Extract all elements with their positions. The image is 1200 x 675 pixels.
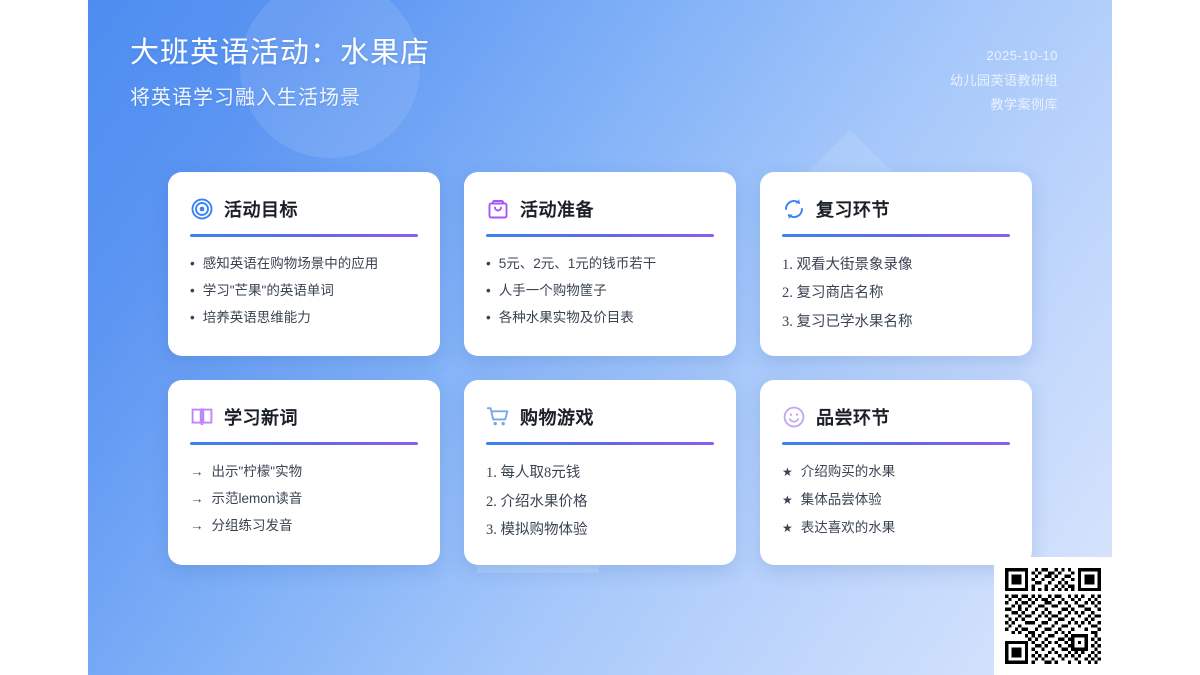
card-header: 活动准备 — [486, 194, 714, 224]
card-header: 品尝环节 — [782, 402, 1010, 432]
bullet-marker: • — [190, 281, 195, 302]
target-icon — [190, 197, 214, 221]
list-item: →分组练习发音 — [190, 513, 418, 540]
list-item: 2. 复习商店名称 — [782, 279, 1010, 307]
card-tasting-section[interactable]: 品尝环节 ★介绍购买的水果 ★集体品尝体验 ★表达喜欢的水果 — [760, 380, 1032, 564]
bullet-marker: • — [486, 281, 491, 302]
list-item: 3. 模拟购物体验 — [486, 516, 714, 544]
star-marker: ★ — [782, 490, 793, 512]
star-marker: ★ — [782, 462, 793, 484]
shopping-cart-icon — [486, 405, 510, 429]
bullet-marker: • — [190, 254, 195, 275]
list-item-text: 2. 复习商店名称 — [782, 282, 884, 304]
card-shopping-game[interactable]: 购物游戏 1. 每人取8元钱 2. 介绍水果价格 3. 模拟购物体验 — [464, 380, 736, 564]
star-marker: ★ — [782, 518, 793, 540]
bullet-marker: • — [190, 308, 195, 329]
arrow-marker: → — [190, 489, 204, 510]
card-list: 1. 观看大街景象录像 2. 复习商店名称 3. 复习已学水果名称 — [782, 251, 1010, 336]
list-item: ★表达喜欢的水果 — [782, 515, 1010, 543]
list-item-text: 1. 每人取8元钱 — [486, 462, 580, 484]
smiley-face-icon — [782, 405, 806, 429]
card-list: •感知英语在购物场景中的应用 •学习"芒果"的英语单词 •培养英语思维能力 — [190, 251, 418, 332]
list-item-text: 出示"柠檬"实物 — [212, 462, 303, 483]
list-item: •5元、2元、1元的钱币若干 — [486, 251, 714, 278]
card-header: 购物游戏 — [486, 402, 714, 432]
list-item: •人手一个购物筐子 — [486, 278, 714, 305]
slide-canvas: 大班英语活动：水果店 将英语学习融入生活场景 2025-10-10 幼儿园英语教… — [88, 0, 1112, 675]
card-header: 学习新词 — [190, 402, 418, 432]
accent-bar — [486, 234, 714, 237]
list-item-text: 培养英语思维能力 — [203, 308, 311, 329]
list-item: •感知英语在购物场景中的应用 — [190, 251, 418, 278]
list-item-text: 示范lemon读音 — [212, 489, 303, 510]
accent-bar — [782, 234, 1010, 237]
meta-organization: 幼儿园英语教研组 — [950, 69, 1058, 94]
card-header: 活动目标 — [190, 194, 418, 224]
list-item-text: 各种水果实物及价目表 — [499, 308, 634, 329]
bullet-marker: • — [486, 254, 491, 275]
list-item-text: 1. 观看大街景象录像 — [782, 254, 913, 276]
list-item: 1. 每人取8元钱 — [486, 459, 714, 487]
card-title: 品尝环节 — [816, 404, 890, 430]
accent-bar — [782, 442, 1010, 445]
list-item-text: 感知英语在购物场景中的应用 — [203, 254, 379, 275]
card-list: ★介绍购买的水果 ★集体品尝体验 ★表达喜欢的水果 — [782, 459, 1010, 542]
slide-header: 大班英语活动：水果店 将英语学习融入生活场景 2025-10-10 幼儿园英语教… — [88, 0, 1112, 118]
page-subtitle: 将英语学习融入生活场景 — [130, 81, 430, 110]
list-item-text: 表达喜欢的水果 — [801, 518, 896, 540]
list-item-text: 人手一个购物筐子 — [499, 281, 607, 302]
bullet-marker: • — [486, 308, 491, 329]
list-item-text: 集体品尝体验 — [801, 490, 882, 512]
page-title: 大班英语活动：水果店 — [130, 34, 430, 73]
meta-date: 2025-10-10 — [950, 44, 1058, 69]
card-list: •5元、2元、1元的钱币若干 •人手一个购物筐子 •各种水果实物及价目表 — [486, 251, 714, 332]
card-list: 1. 每人取8元钱 2. 介绍水果价格 3. 模拟购物体验 — [486, 459, 714, 544]
card-review-section[interactable]: 复习环节 1. 观看大街景象录像 2. 复习商店名称 3. 复习已学水果名称 — [760, 172, 1032, 356]
list-item: ★集体品尝体验 — [782, 487, 1010, 515]
qr-code-image — [1005, 568, 1101, 664]
title-block: 大班英语活动：水果店 将英语学习融入生活场景 — [130, 34, 430, 110]
list-item: →示范lemon读音 — [190, 486, 418, 513]
card-title: 活动准备 — [520, 196, 594, 222]
card-activity-preparation[interactable]: 活动准备 •5元、2元、1元的钱币若干 •人手一个购物筐子 •各种水果实物及价目… — [464, 172, 736, 356]
list-item-text: 分组练习发音 — [212, 516, 293, 537]
card-activity-goals[interactable]: 活动目标 •感知英语在购物场景中的应用 •学习"芒果"的英语单词 •培养英语思维… — [168, 172, 440, 356]
card-title: 复习环节 — [816, 196, 890, 222]
meta-library: 教学案例库 — [950, 93, 1058, 118]
list-item-text: 5元、2元、1元的钱币若干 — [499, 254, 657, 275]
list-item: •各种水果实物及价目表 — [486, 305, 714, 332]
list-item-text: 3. 模拟购物体验 — [486, 519, 588, 541]
accent-bar — [486, 442, 714, 445]
list-item-text: 介绍购买的水果 — [801, 462, 896, 484]
list-item: ★介绍购买的水果 — [782, 459, 1010, 487]
card-title: 学习新词 — [224, 404, 298, 430]
arrow-marker: → — [190, 516, 204, 537]
list-item-text: 2. 介绍水果价格 — [486, 491, 588, 513]
list-item-text: 3. 复习已学水果名称 — [782, 311, 913, 333]
list-item: •学习"芒果"的英语单词 — [190, 278, 418, 305]
card-learn-new-words[interactable]: 学习新词 →出示"柠檬"实物 →示范lemon读音 →分组练习发音 — [168, 380, 440, 564]
card-title: 活动目标 — [224, 196, 298, 222]
list-item: 1. 观看大街景象录像 — [782, 251, 1010, 279]
refresh-icon — [782, 197, 806, 221]
card-header: 复习环节 — [782, 194, 1010, 224]
list-item-text: 学习"芒果"的英语单词 — [203, 281, 334, 302]
open-book-icon — [190, 405, 214, 429]
accent-bar — [190, 234, 418, 237]
list-item: 2. 介绍水果价格 — [486, 488, 714, 516]
accent-bar — [190, 442, 418, 445]
arrow-marker: → — [190, 462, 204, 483]
shopping-bag-icon — [486, 197, 510, 221]
list-item: •培养英语思维能力 — [190, 305, 418, 332]
list-item: 3. 复习已学水果名称 — [782, 308, 1010, 336]
card-list: →出示"柠檬"实物 →示范lemon读音 →分组练习发音 — [190, 459, 418, 540]
list-item: →出示"柠檬"实物 — [190, 459, 418, 486]
card-title: 购物游戏 — [520, 404, 594, 430]
cards-grid: 活动目标 •感知英语在购物场景中的应用 •学习"芒果"的英语单词 •培养英语思维… — [168, 172, 1032, 565]
qr-code[interactable] — [994, 557, 1112, 675]
header-meta: 2025-10-10 幼儿园英语教研组 教学案例库 — [950, 34, 1058, 118]
